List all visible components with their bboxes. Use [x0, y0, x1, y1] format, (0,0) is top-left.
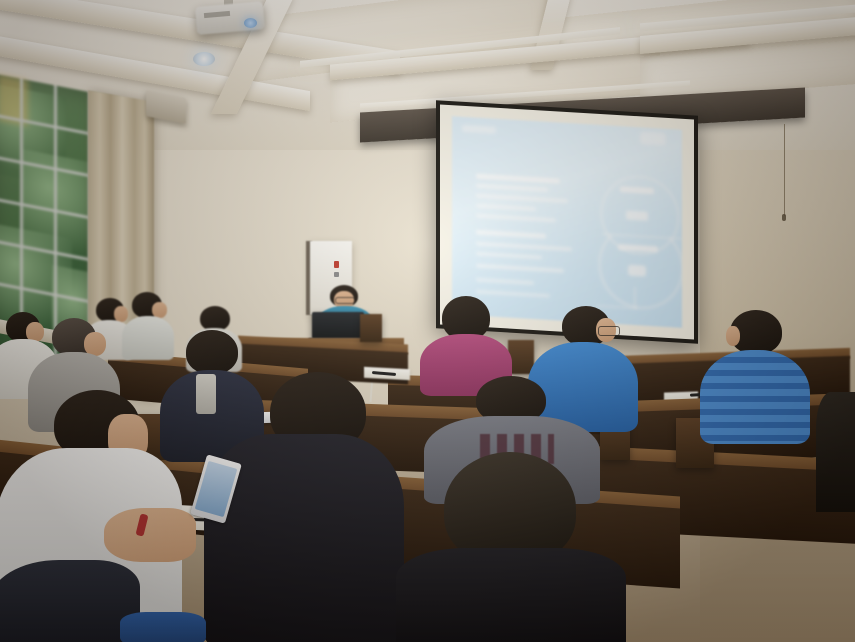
slide-bullet-line [476, 264, 564, 273]
recessed-ceiling-light [193, 52, 215, 66]
slide-logo [640, 131, 666, 146]
screen-pull-cord[interactable] [784, 124, 785, 216]
wooden-chair[interactable] [360, 314, 382, 342]
slide-bullet-line [476, 204, 536, 212]
slide-bullet-line [476, 242, 572, 252]
attendee-dark-head-bottom [396, 452, 626, 642]
whiteboard-indicator-secondary-icon [334, 272, 339, 277]
attendee-head [186, 330, 238, 374]
presenter-laptop [312, 312, 364, 339]
slide-bullet-line [476, 252, 542, 260]
slide-bullet-line [476, 214, 556, 223]
slide-diagram-label [628, 265, 646, 277]
attendee-torso [700, 350, 810, 444]
whiteboard-indicator-icon [334, 261, 339, 268]
slide-bullet-line [476, 174, 560, 184]
attendee-arm [104, 508, 196, 562]
slide-bullet-line [476, 184, 548, 192]
attendee-torso [396, 548, 626, 642]
slide-diagram-label [626, 211, 648, 221]
slide-bullet-line [476, 194, 568, 203]
slide-bullet-line [476, 278, 534, 285]
presenter-glasses-icon [335, 297, 355, 304]
projector-lens-icon [244, 18, 257, 28]
screen-pull-cord-handle[interactable] [782, 214, 786, 221]
attendee-blue-striped-right [700, 310, 810, 440]
attendee-shoulder-bottom-left [0, 560, 140, 642]
lecture-room-photo [0, 0, 855, 642]
attendee-face [726, 326, 740, 346]
attendee-black-tshirt-front [204, 372, 404, 642]
slide-bullet-line [476, 230, 546, 239]
glasses-icon [598, 326, 620, 336]
attendee-dark-right-edge [816, 392, 855, 512]
attendee-sleeve-blue [120, 612, 206, 642]
slide-header [462, 125, 496, 134]
